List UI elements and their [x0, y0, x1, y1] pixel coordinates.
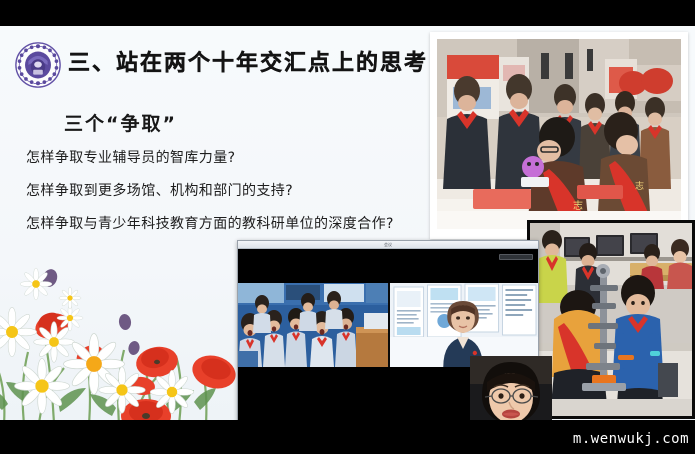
window-title: 会议	[384, 241, 392, 249]
presentation-slide: 三、站在两个十年交汇点上的思考 三个“争取” 怎样争取专业辅导员的智库力量? 怎…	[0, 26, 695, 420]
svg-text:志: 志	[573, 199, 583, 212]
meeting-info-badge[interactable]	[499, 254, 533, 260]
share-panel-band	[238, 283, 538, 367]
slide-bullet-2: 怎样争取到更多场馆、机构和部门的支持?	[26, 183, 436, 200]
site-watermark: m.wenwukj.com	[573, 431, 689, 447]
share-pane-presenter	[388, 283, 538, 367]
slide-title: 三、站在两个十年交汇点上的思考	[68, 45, 428, 77]
slide-bullet-1: 怎样争取专业辅导员的智库力量?	[26, 150, 436, 167]
video-player-stage: 三、站在两个十年交汇点上的思考 三个“争取” 怎样争取专业辅导员的智库力量? 怎…	[0, 0, 695, 454]
svg-text:志: 志	[635, 180, 644, 191]
watercolor-flowers-decoration	[0, 264, 244, 420]
slide-bullet-list: 怎样争取专业辅导员的智库力量? 怎样争取到更多场馆、机构和部门的支持? 怎样争取…	[26, 150, 436, 248]
share-pane-classroom	[238, 283, 388, 367]
photo-robotics-lab	[527, 220, 695, 419]
slide-subtitle: 三个“争取”	[64, 109, 177, 136]
slide-bullet-3: 怎样争取与青少年科技教育方面的教科研单位的深度合作?	[26, 216, 436, 233]
photo-event-red-scarf: 志 志	[430, 32, 688, 239]
organization-emblem-icon	[12, 40, 64, 90]
speaker-camera-overlay	[470, 356, 552, 420]
window-titlebar[interactable]: 会议	[238, 241, 538, 249]
letterbox-top-bar	[0, 0, 695, 26]
